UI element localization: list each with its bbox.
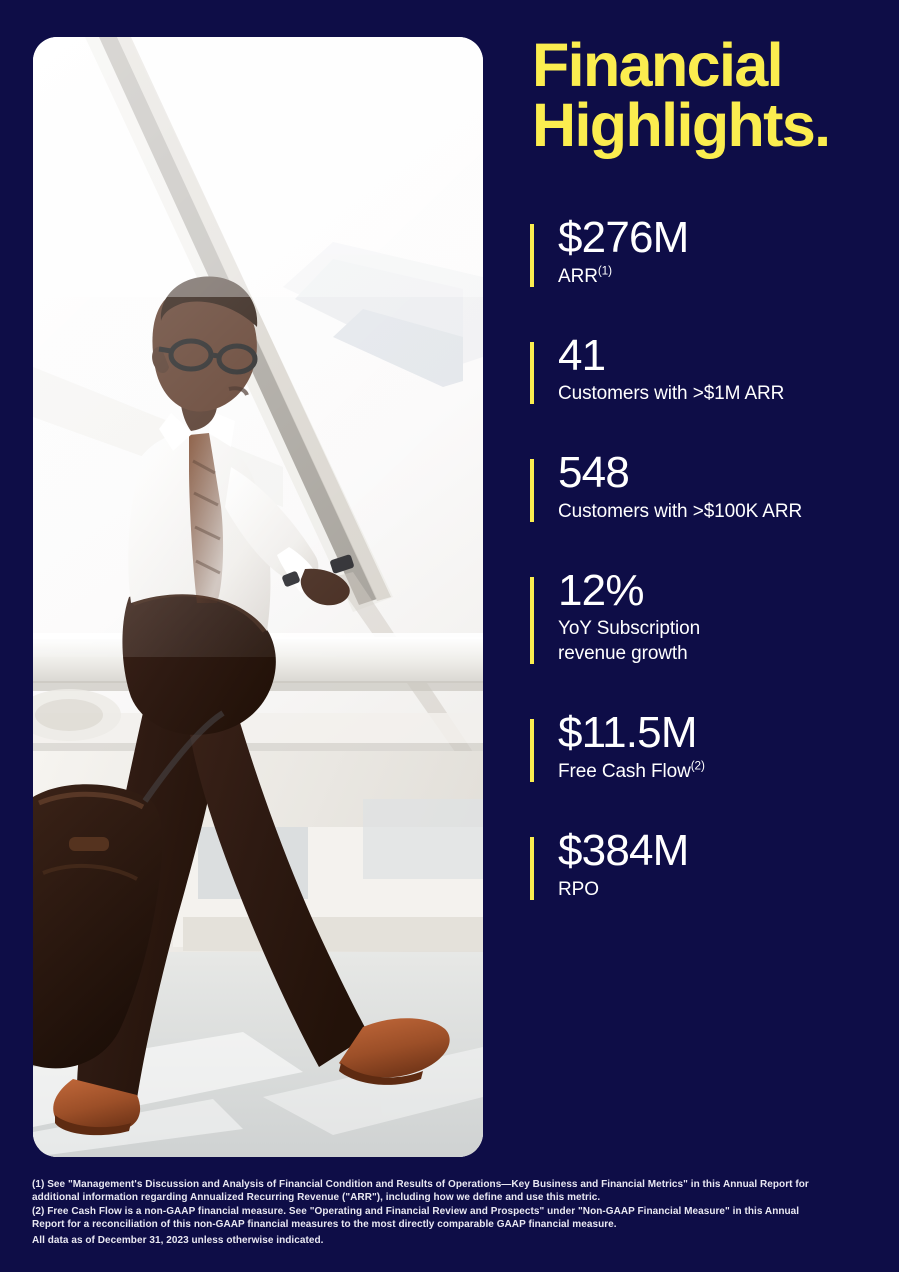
stat-item-customers-1m: 41 Customers with >$1M ARR xyxy=(528,332,888,407)
stat-label-text: RPO xyxy=(558,879,599,900)
financial-highlights-list: $276M ARR(1) 41 Customers with >$1M ARR … xyxy=(528,214,888,902)
footnote-1-line-2: additional information regarding Annuali… xyxy=(32,1191,870,1204)
stat-value: $276M xyxy=(558,214,888,262)
stat-item-yoy-growth: 12% YoY Subscription revenue growth xyxy=(528,567,888,667)
accent-bar-icon xyxy=(530,459,534,522)
footnote-2: (2) Free Cash Flow is a non-GAAP financi… xyxy=(32,1205,870,1232)
stat-label: Customers with >$100K ARR xyxy=(558,499,888,524)
stat-item-free-cash-flow: $11.5M Free Cash Flow(2) xyxy=(528,709,888,784)
stat-label: RPO xyxy=(558,877,888,902)
stat-label-text: Customers with >$1M ARR xyxy=(558,383,784,404)
accent-bar-icon xyxy=(530,342,534,405)
stat-value: 12% xyxy=(558,567,888,615)
footnote-2-line-1: (2) Free Cash Flow is a non-GAAP financi… xyxy=(32,1205,870,1218)
stat-label: Customers with >$1M ARR xyxy=(558,381,888,406)
accent-bar-icon xyxy=(530,224,534,287)
stat-value: 41 xyxy=(558,332,888,380)
stat-label: Free Cash Flow(2) xyxy=(558,759,888,784)
footnotes: (1) See "Management's Discussion and Ana… xyxy=(32,1178,870,1247)
stat-value: 548 xyxy=(558,449,888,497)
stat-item-arr: $276M ARR(1) xyxy=(528,214,888,289)
footnote-3: All data as of December 31, 2023 unless … xyxy=(32,1234,870,1247)
accent-bar-icon xyxy=(530,837,534,900)
stat-label-text: ARR xyxy=(558,266,598,287)
footnote-1-line-1: (1) See "Management's Discussion and Ana… xyxy=(32,1178,870,1191)
stat-value: $11.5M xyxy=(558,709,888,757)
stat-value: $384M xyxy=(558,827,888,875)
stat-label-text: Customers with >$100K ARR xyxy=(558,501,802,522)
accent-bar-icon xyxy=(530,577,534,665)
footnote-2-line-2: Report for a reconciliation of this non-… xyxy=(32,1218,870,1231)
accent-bar-icon xyxy=(530,719,534,782)
stat-label-superscript: (1) xyxy=(598,264,612,277)
stat-label-text: YoY Subscription revenue growth xyxy=(558,618,700,664)
hero-photo-image xyxy=(33,37,483,1157)
content-column: Financial Highlights. $276M ARR(1) 41 Cu… xyxy=(528,0,888,1272)
hero-photo xyxy=(33,37,483,1157)
stat-item-rpo: $384M RPO xyxy=(528,827,888,902)
footnote-3-line-1: All data as of December 31, 2023 unless … xyxy=(32,1234,870,1247)
footnote-1: (1) See "Management's Discussion and Ana… xyxy=(32,1178,870,1205)
stat-label-text: Free Cash Flow xyxy=(558,761,691,782)
page-title: Financial Highlights. xyxy=(532,36,882,156)
stat-label-superscript: (2) xyxy=(691,760,705,773)
stat-item-customers-100k: 548 Customers with >$100K ARR xyxy=(528,449,888,524)
stat-label: ARR(1) xyxy=(558,264,888,289)
stat-label: YoY Subscription revenue growth xyxy=(558,616,888,666)
